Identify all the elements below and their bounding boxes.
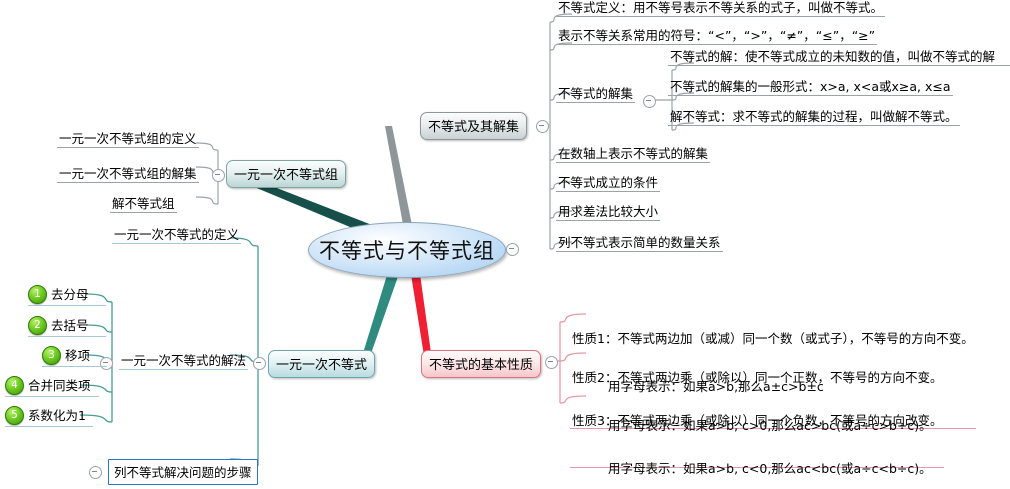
step-badge-4: 4 xyxy=(5,376,24,395)
leaf-property-3[interactable]: 性质3：不等式两边乘（或除以）同一个负数，不等号的方向改变。 用字母表示：如果a… xyxy=(570,381,944,489)
step-label-5: 系数化为1 xyxy=(28,405,86,425)
mindmap-canvas: 不等式与不等式组 不等式及其解集 不等式的基本性质 一元一次不等式组 一元一次不… xyxy=(0,0,1010,489)
step-badge-2: 2 xyxy=(28,316,47,335)
step-label-2: 去括号 xyxy=(51,315,89,335)
step-label-4: 合并同类项 xyxy=(28,375,91,395)
leaf-linear-inequality-definition[interactable]: 一元一次不等式的定义 xyxy=(112,227,241,244)
leaf-solve-inequality[interactable]: 解不等式：求不等式的解集的过程，叫做解不等式。 xyxy=(668,109,960,126)
step-item-1[interactable]: 1 去分母 xyxy=(28,284,89,304)
leaf-group-definition[interactable]: 一元一次不等式组的定义 xyxy=(57,131,199,148)
node-linear-inequality-group[interactable]: 一元一次不等式组 xyxy=(226,160,346,188)
step-item-4[interactable]: 4 合并同类项 xyxy=(5,375,91,395)
node-basic-properties[interactable]: 不等式的基本性质 xyxy=(421,350,541,378)
toggle-inequality-and-solution-set[interactable] xyxy=(536,120,549,133)
edges-linear-inequality xyxy=(230,238,264,466)
leaf-inequality-symbols[interactable]: 表示不等关系常用的符号：“<”，“>”，“≠”，“≤”，“≥” xyxy=(556,28,877,45)
node-label: 一元一次不等式组 xyxy=(234,168,338,183)
step-item-2[interactable]: 2 去括号 xyxy=(28,315,89,335)
central-node-label: 不等式与不等式组 xyxy=(319,235,495,265)
leaf-inequality-definition[interactable]: 不等式定义：用不等号表示不等关系的式子，叫做不等式。 xyxy=(556,0,885,17)
step-badge-3: 3 xyxy=(42,346,61,365)
central-collapse-toggle[interactable] xyxy=(506,243,519,256)
node-linear-inequality[interactable]: 一元一次不等式 xyxy=(268,350,375,378)
step-item-5[interactable]: 5 系数化为1 xyxy=(5,405,86,425)
step-label-1: 去分母 xyxy=(51,284,89,304)
toggle-linear-inequality[interactable] xyxy=(253,357,266,370)
property-3-line2: 用字母表示：如果a>b, c<0,那么ac<bc(或a÷c<b÷c)。 xyxy=(572,461,942,477)
leaf-problem-solving-steps[interactable]: 列不等式解决问题的步骤 xyxy=(108,459,258,485)
node-label: 一元一次不等式 xyxy=(276,358,367,373)
node-label: 不等式的基本性质 xyxy=(429,358,533,373)
leaf-solution-of-inequality[interactable]: 不等式的解：使不等式成立的未知数的值，叫做不等式的解 xyxy=(668,49,1010,66)
leaf-solution-set-general-form[interactable]: 不等式的解集的一般形式：x>a, x<a或x≥a, x≤a xyxy=(668,79,953,96)
node-label: 列不等式解决问题的步骤 xyxy=(114,465,252,480)
leaf-number-line-representation[interactable]: 在数轴上表示不等式的解集 xyxy=(556,146,710,163)
toggle-basic-properties[interactable] xyxy=(545,356,558,369)
leaf-compare-by-difference[interactable]: 用求差法比较大小 xyxy=(556,204,660,221)
toggle-solution-set[interactable] xyxy=(643,95,656,108)
leaf-group-solution-set[interactable]: 一元一次不等式组的解集 xyxy=(57,166,199,183)
leaf-solve-group[interactable]: 解不等式组 xyxy=(110,196,177,213)
toggle-linear-inequality-method[interactable] xyxy=(100,357,113,370)
step-badge-5: 5 xyxy=(5,406,24,425)
toggle-linear-inequality-group[interactable] xyxy=(212,169,225,182)
node-inequality-and-solution-set[interactable]: 不等式及其解集 xyxy=(420,112,527,140)
property-3-line1: 性质3：不等式两边乘（或除以）同一个负数，不等号的方向改变。 xyxy=(572,413,942,429)
toggle-problem-solving-steps[interactable] xyxy=(89,466,102,479)
step-label-3: 移项 xyxy=(65,345,90,365)
step-badge-1: 1 xyxy=(28,285,47,304)
leaf-condition-of-inequality[interactable]: 不等式成立的条件 xyxy=(556,175,660,192)
node-label: 不等式及其解集 xyxy=(428,120,519,135)
step-item-3[interactable]: 3 移项 xyxy=(42,345,90,365)
central-node[interactable]: 不等式与不等式组 xyxy=(308,222,506,278)
leaf-express-simple-quantity-relation[interactable]: 列不等式表示简单的数量关系 xyxy=(556,235,723,252)
leaf-solution-set[interactable]: 不等式的解集 xyxy=(556,86,635,103)
leaf-linear-inequality-method[interactable]: 一元一次不等式的解法 xyxy=(119,353,248,370)
